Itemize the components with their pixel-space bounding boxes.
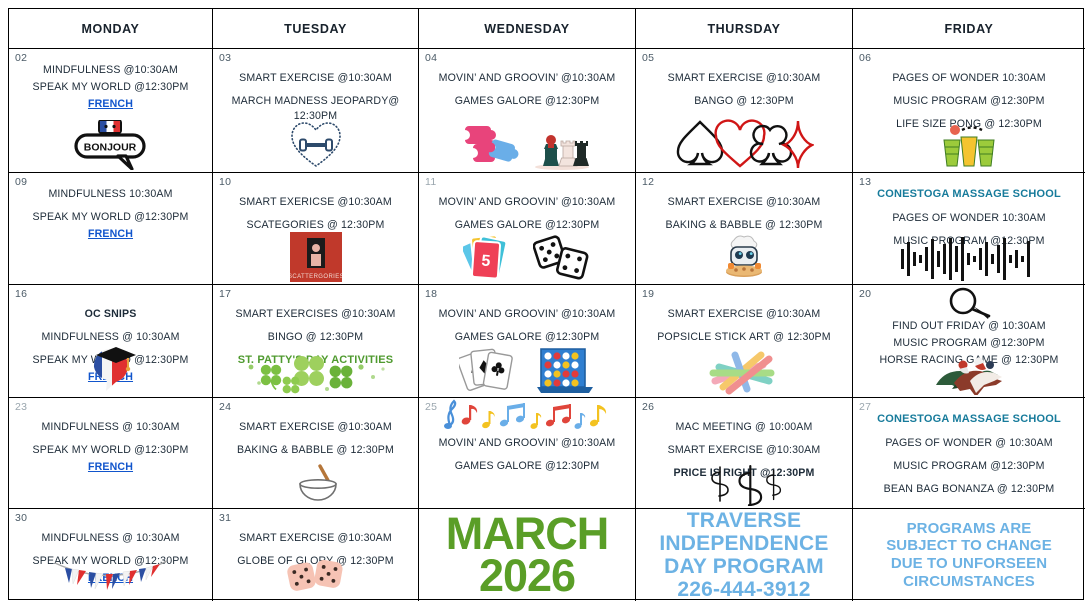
event-item: PRICE IS RIGHT @12:30PM: [642, 466, 846, 481]
day-number: 02: [15, 52, 27, 64]
playing-cards-fan-icon: 5: [463, 230, 519, 282]
day-header-friday: FRIDAY: [853, 9, 1085, 49]
event-item: CONESTOGA MASSAGE SCHOOL: [859, 412, 1079, 428]
event-list: PAGES OF WONDER 10:30AMMUSIC PROGRAM @12…: [853, 49, 1085, 132]
day-graphics: BONJOUR: [9, 114, 212, 170]
day-cell[interactable]: 17SMART EXERCISES @10:30AMBINGO @ 12:30P…: [213, 285, 419, 398]
event-item: BAKING & BABBLE @ 12:30PM: [219, 443, 412, 458]
day-number: 17: [219, 288, 231, 300]
event-list: MOVIN’ AND GROOVIN’ @10:30AMGAMES GALORE…: [419, 173, 635, 233]
event-list: CONESTOGA MASSAGE SCHOOLPAGES OF WONDER …: [853, 398, 1085, 497]
event-item: BEAN BAG BONANZA @ 12:30PM: [859, 482, 1079, 497]
heart-dumbbell-icon: [289, 120, 343, 170]
disclaimer-line: PROGRAMS ARE: [886, 520, 1052, 538]
disclaimer-line: DUE TO UNFORSEEN: [886, 555, 1052, 573]
popsicle-sticks-icon: [707, 347, 781, 395]
day-cell[interactable]: 05SMART EXERCISE @10:30AMBANGO @ 12:30PM: [636, 49, 853, 173]
event-item: SMART EXERCISE @10:30AM: [642, 307, 846, 322]
event-item: MOVIN’ AND GROOVIN’ @10:30AM: [425, 71, 629, 86]
program-name-line: DAY PROGRAM: [659, 555, 828, 578]
day-graphics: [419, 339, 635, 395]
event-item: MINDFULNESS 10:30AM: [15, 187, 206, 202]
playing-cards-hand-icon: [459, 345, 521, 395]
event-item: BANGO @ 12:30PM: [642, 94, 846, 109]
event-item: MOVIN’ AND GROOVIN’ @10:30AM: [425, 307, 629, 322]
event-item: GLOBE OF GLORY @ 12:30PM: [219, 554, 412, 569]
event-list: SMART EXERCISE @10:30AMBAKING & BABBLE @…: [213, 398, 418, 458]
day-cell[interactable]: 20 FIND OUT FRIDAY @ 10:30AMMUSIC PROGRA…: [853, 285, 1085, 398]
day-cell[interactable]: 04MOVIN’ AND GROOVIN’ @10:30AMGAMES GALO…: [419, 49, 636, 173]
event-item: MUSIC PROGRAM @12:30PM: [859, 459, 1079, 474]
day-cell[interactable]: 06PAGES OF WONDER 10:30AMMUSIC PROGRAM @…: [853, 49, 1085, 173]
event-item: MUSIC PROGRAM @12:30PM: [859, 336, 1079, 351]
event-item: MINDFULNESS @10:30AM: [15, 63, 206, 78]
event-list: SMART EXERICSE @10:30AMSCATEGORIES @ 12:…: [213, 173, 418, 233]
month-title-block: MARCH2026: [419, 509, 636, 601]
day-number: 04: [425, 52, 437, 64]
day-number: 30: [15, 512, 27, 524]
event-item: ST. PATTY'S DAY ACTIVITIES: [219, 353, 412, 369]
connect-four-icon: [535, 345, 595, 395]
disclaimer-line: CIRCUMSTANCES: [886, 573, 1052, 591]
program-info-block: TRAVERSEINDEPENDENCEDAY PROGRAM226-444-3…: [636, 509, 853, 601]
month-name: MARCH: [446, 513, 608, 555]
day-cell[interactable]: 10SMART EXERICSE @10:30AMSCATEGORIES @ 1…: [213, 173, 419, 285]
event-list: SMART EXERCISE @10:30AMMARCH MADNESS JEO…: [213, 49, 418, 124]
event-item: GAMES GALORE @12:30PM: [425, 459, 629, 474]
day-graphics: [636, 339, 852, 395]
event-list: SMART EXERCISE @10:30AMGLOBE OF GLORY @ …: [213, 509, 418, 569]
event-item: BAKING & BABBLE @ 12:30PM: [642, 218, 846, 233]
event-item: GAMES GALORE @12:30PM: [425, 218, 629, 233]
scattergories-box-icon: SCATTERGORIES: [290, 232, 342, 282]
chess-pieces-icon: [533, 120, 591, 170]
day-number: 10: [219, 176, 231, 188]
event-list: OC SNIPSMINDFULNESS @ 10:30AMSPEAK MY WO…: [9, 285, 212, 385]
event-item: SMART EXERICSE @10:30AM: [219, 195, 412, 210]
event-item: SMART EXERCISE @10:30AM: [642, 71, 846, 86]
event-item: MARCH MADNESS JEOPARDY@ 12:30PM: [219, 94, 412, 124]
day-cell[interactable]: 12SMART EXERCISE @10:30AMBAKING & BABBLE…: [636, 173, 853, 285]
event-list: SMART EXERCISE @10:30AMBAKING & BABBLE @…: [636, 173, 852, 233]
event-item: MUSIC PROGRAM @12:30PM: [859, 94, 1079, 109]
event-list: MOVIN’ AND GROOVIN’ @10:30AMGAMES GALORE…: [419, 49, 635, 109]
day-cell[interactable]: 25 MOVIN’ AND GROOVIN’ @10:30AMGAMES GAL…: [419, 398, 636, 509]
day-number: 19: [642, 288, 654, 300]
event-item: OC SNIPS: [15, 307, 206, 322]
event-item: CONESTOGA MASSAGE SCHOOL: [859, 187, 1079, 203]
event-item: SMART EXERCISE @10:30AM: [219, 531, 412, 546]
day-number: 05: [642, 52, 654, 64]
day-cell[interactable]: 18MOVIN’ AND GROOVIN’ @10:30AMGAMES GALO…: [419, 285, 636, 398]
event-item: SCATEGORIES @ 12:30PM: [219, 218, 412, 233]
music-notes-icon: [442, 399, 612, 438]
event-item: SMART EXERCISES @10:30AM: [219, 307, 412, 322]
day-header-label: MONDAY: [81, 22, 139, 36]
day-cell[interactable]: 26MAC MEETING @ 10:00AMSMART EXERCISE @1…: [636, 398, 853, 509]
day-cell[interactable]: 31SMART EXERCISE @10:30AMGLOBE OF GLORY …: [213, 509, 419, 601]
event-item: SMART EXERCISE @10:30AM: [642, 195, 846, 210]
event-item: SMART EXERCISE @10:30AM: [219, 71, 412, 86]
event-item: HORSE RACING GAME @ 12:30PM: [859, 353, 1079, 368]
day-header-monday: MONDAY: [9, 9, 213, 49]
day-header-thursday: THURSDAY: [636, 9, 853, 49]
event-item: PAGES OF WONDER 10:30AM: [859, 71, 1079, 86]
event-item: MOVIN’ AND GROOVIN’ @10:30AM: [425, 436, 629, 451]
day-cell[interactable]: 24SMART EXERCISE @10:30AMBAKING & BABBLE…: [213, 398, 419, 509]
day-number: 18: [425, 288, 437, 300]
day-cell[interactable]: 27CONESTOGA MASSAGE SCHOOLPAGES OF WONDE…: [853, 398, 1085, 509]
event-item: SPEAK MY WORLD @12:30PM: [15, 443, 206, 458]
day-cell[interactable]: 09MINDFULNESS 10:30AMSPEAK MY WORLD @12:…: [9, 173, 213, 285]
day-number: 23: [15, 401, 27, 413]
event-item: SPEAK MY WORLD @12:30PM: [15, 353, 206, 368]
event-item: PAGES OF WONDER 10:30AM: [859, 211, 1079, 226]
day-graphics: [419, 114, 635, 170]
day-cell[interactable]: 02MINDFULNESS @10:30AMSPEAK MY WORLD @12…: [9, 49, 213, 173]
day-header-tuesday: TUESDAY: [213, 9, 419, 49]
event-item: BINGO @ 12:30PM: [219, 330, 412, 345]
event-item: SMART EXERCISE @10:30AM: [219, 420, 412, 435]
event-list: MINDFULNESS @ 10:30AMSPEAK MY WORLD @12:…: [9, 398, 212, 475]
event-item: LIFE SIZE PONG @ 12:30PM: [859, 117, 1079, 132]
day-header-wednesday: WEDNESDAY: [419, 9, 636, 49]
day-top-graphic: [419, 399, 635, 438]
event-list: MINDFULNESS @ 10:30AMSPEAK MY WORLD @12:…: [9, 509, 212, 586]
program-name-line: TRAVERSE: [659, 509, 828, 532]
day-number: 09: [15, 176, 27, 188]
event-item: POPSICLE STICK ART @ 12:30PM: [642, 330, 846, 345]
day-graphics: [636, 114, 852, 170]
day-number: 13: [859, 176, 871, 188]
day-graphics: [213, 450, 418, 506]
day-cell[interactable]: 11MOVIN’ AND GROOVIN’ @10:30AMGAMES GALO…: [419, 173, 636, 285]
bonjour-speech-bubble-icon: BONJOUR: [74, 120, 148, 170]
day-cell[interactable]: 16OC SNIPSMINDFULNESS @ 10:30AMSPEAK MY …: [9, 285, 213, 398]
event-list: CONESTOGA MASSAGE SCHOOLPAGES OF WONDER …: [853, 173, 1085, 249]
event-item: MAC MEETING @ 10:00AM: [642, 420, 846, 435]
day-cell[interactable]: 23MINDFULNESS @ 10:30AMSPEAK MY WORLD @1…: [9, 398, 213, 509]
day-header-label: TUESDAY: [284, 22, 347, 36]
day-graphics: 5: [419, 226, 635, 282]
event-item[interactable]: FRENCH: [15, 227, 206, 242]
event-list: SMART EXERCISES @10:30AMBINGO @ 12:30PMS…: [213, 285, 418, 369]
event-list: MAC MEETING @ 10:00AMSMART EXERCISE @10:…: [636, 398, 852, 481]
day-cell[interactable]: 13CONESTOGA MASSAGE SCHOOLPAGES OF WONDE…: [853, 173, 1085, 285]
mixing-bowl-whisk-icon: [290, 462, 342, 506]
day-number: 03: [219, 52, 231, 64]
event-item: PAGES OF WONDER @ 10:30AM: [859, 436, 1079, 451]
event-item: SPEAK MY WORLD @12:30PM: [15, 210, 206, 225]
event-item: MINDFULNESS @ 10:30AM: [15, 531, 206, 546]
day-cell[interactable]: 03SMART EXERCISE @10:30AMMARCH MADNESS J…: [213, 49, 419, 173]
day-number: 11: [425, 176, 437, 188]
disclaimer-block: PROGRAMS ARESUBJECT TO CHANGEDUE TO UNFO…: [853, 509, 1085, 601]
event-item: MINDFULNESS @ 10:30AM: [15, 330, 206, 345]
day-header-label: FRIDAY: [945, 22, 994, 36]
event-item: MINDFULNESS @ 10:30AM: [15, 420, 206, 435]
day-number: 24: [219, 401, 231, 413]
day-number: 06: [859, 52, 871, 64]
event-item[interactable]: FRENCH: [15, 370, 206, 385]
disclaimer-line: SUBJECT TO CHANGE: [886, 537, 1052, 555]
event-list: MINDFULNESS @10:30AMSPEAK MY WORLD @12:3…: [9, 49, 212, 112]
day-number: 26: [642, 401, 654, 413]
event-item: MUSIC PROGRAM @12:30PM: [859, 234, 1079, 249]
event-item[interactable]: FRENCH: [15, 571, 206, 586]
event-list: MOVIN’ AND GROOVIN’ @10:30AMGAMES GALORE…: [419, 285, 635, 345]
magnifying-glass-icon: [945, 286, 993, 325]
event-item: SPEAK MY WORLD @12:30PM: [15, 554, 206, 569]
event-item[interactable]: FRENCH: [15, 460, 206, 475]
day-graphics: SCATTERGORIES: [213, 226, 418, 282]
day-top-graphic: [853, 286, 1085, 325]
day-number: 27: [859, 401, 871, 413]
svg-text:SCATTERGORIES: SCATTERGORIES: [290, 274, 342, 280]
event-item: MOVIN’ AND GROOVIN’ @10:30AM: [425, 195, 629, 210]
day-header-label: WEDNESDAY: [484, 22, 570, 36]
day-cell[interactable]: 30MINDFULNESS @ 10:30AMSPEAK MY WORLD @1…: [9, 509, 213, 601]
baking-robot-icon: [718, 234, 770, 282]
day-number: 31: [219, 512, 231, 524]
day-number: 16: [15, 288, 27, 300]
event-list: SMART EXERCISE @10:30AMPOPSICLE STICK AR…: [636, 285, 852, 345]
dice-pair-icon: [533, 234, 591, 282]
day-header-label: THURSDAY: [707, 22, 780, 36]
event-item: GAMES GALORE @12:30PM: [425, 94, 629, 109]
event-item: SMART EXERCISE @10:30AM: [642, 443, 846, 458]
event-item: SPEAK MY WORLD @12:30PM: [15, 80, 206, 95]
month-year: 2026: [446, 555, 608, 597]
svg-text:5: 5: [481, 252, 491, 270]
program-name-line: INDEPENDENCE: [659, 532, 828, 555]
card-suits-icon: [674, 118, 814, 170]
event-list: MINDFULNESS 10:30AMSPEAK MY WORLD @12:30…: [9, 173, 212, 242]
day-number: 12: [642, 176, 654, 188]
event-list: SMART EXERCISE @10:30AMBANGO @ 12:30PM: [636, 49, 852, 109]
event-item[interactable]: FRENCH: [15, 97, 206, 112]
day-graphics: [636, 226, 852, 282]
day-cell[interactable]: 19SMART EXERCISE @10:30AMPOPSICLE STICK …: [636, 285, 853, 398]
svg-text:BONJOUR: BONJOUR: [83, 142, 136, 154]
program-phone-number[interactable]: 226-444-3912: [659, 578, 828, 601]
puzzle-pieces-icon: [463, 122, 519, 170]
event-item: GAMES GALORE @12:30PM: [425, 330, 629, 345]
monthly-activity-calendar: MONDAY TUESDAY WEDNESDAY THURSDAY FRIDAY…: [8, 8, 1084, 600]
